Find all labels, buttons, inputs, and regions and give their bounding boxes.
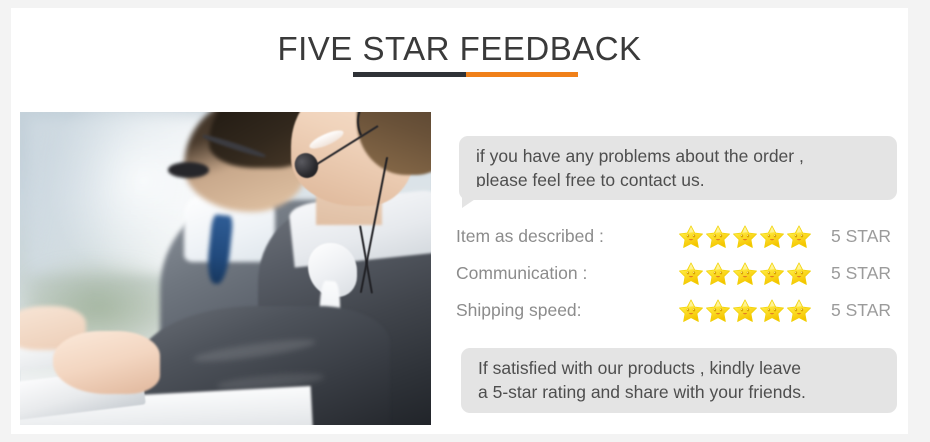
star-icon bbox=[759, 298, 785, 324]
feedback-card: FIVE STAR FEEDBACK bbox=[11, 8, 908, 434]
rating-stars bbox=[678, 261, 814, 287]
photo-front-agent-hand bbox=[53, 331, 160, 394]
contact-message-bubble: if you have any problems about the order… bbox=[459, 136, 897, 200]
feedback-content-column: if you have any problems about the order… bbox=[448, 112, 900, 422]
star-icon bbox=[732, 224, 758, 250]
star-icon bbox=[732, 261, 758, 287]
page-title: FIVE STAR FEEDBACK bbox=[11, 30, 908, 68]
star-icon bbox=[786, 261, 812, 287]
rating-label: Item as described : bbox=[456, 226, 678, 247]
star-icon bbox=[678, 298, 704, 324]
photo-back-agent-microphone bbox=[168, 162, 209, 178]
title-underline-accent-segment bbox=[466, 72, 579, 77]
customer-service-agents-photo bbox=[20, 112, 431, 425]
star-icon bbox=[678, 261, 704, 287]
rating-value: 5 STAR bbox=[814, 300, 900, 321]
star-icon bbox=[759, 261, 785, 287]
title-underline bbox=[353, 72, 578, 77]
title-underline-dark-segment bbox=[353, 72, 466, 77]
star-icon bbox=[786, 224, 812, 250]
rating-label: Communication : bbox=[456, 263, 678, 284]
leave-rating-note-text: If satisfied with our products , kindly … bbox=[478, 356, 885, 404]
star-icon bbox=[732, 298, 758, 324]
rating-row: Item as described :5 STAR bbox=[456, 218, 900, 255]
star-icon bbox=[678, 224, 704, 250]
star-icon bbox=[705, 224, 731, 250]
star-icon bbox=[759, 224, 785, 250]
contact-message-text: if you have any problems about the order… bbox=[476, 144, 885, 192]
rating-label: Shipping speed: bbox=[456, 300, 678, 321]
star-icon bbox=[705, 261, 731, 287]
rating-stars bbox=[678, 298, 814, 324]
speech-bubble-tail bbox=[462, 187, 493, 208]
star-icon bbox=[786, 298, 812, 324]
header: FIVE STAR FEEDBACK bbox=[11, 8, 908, 103]
star-icon bbox=[705, 298, 731, 324]
rating-stars bbox=[678, 224, 814, 250]
ratings-list: Item as described :5 STARCommunication :… bbox=[456, 218, 900, 329]
rating-row: Communication :5 STAR bbox=[456, 255, 900, 292]
leave-rating-note: If satisfied with our products , kindly … bbox=[461, 348, 897, 413]
rating-value: 5 STAR bbox=[814, 263, 900, 284]
rating-row: Shipping speed:5 STAR bbox=[456, 292, 900, 329]
rating-value: 5 STAR bbox=[814, 226, 900, 247]
